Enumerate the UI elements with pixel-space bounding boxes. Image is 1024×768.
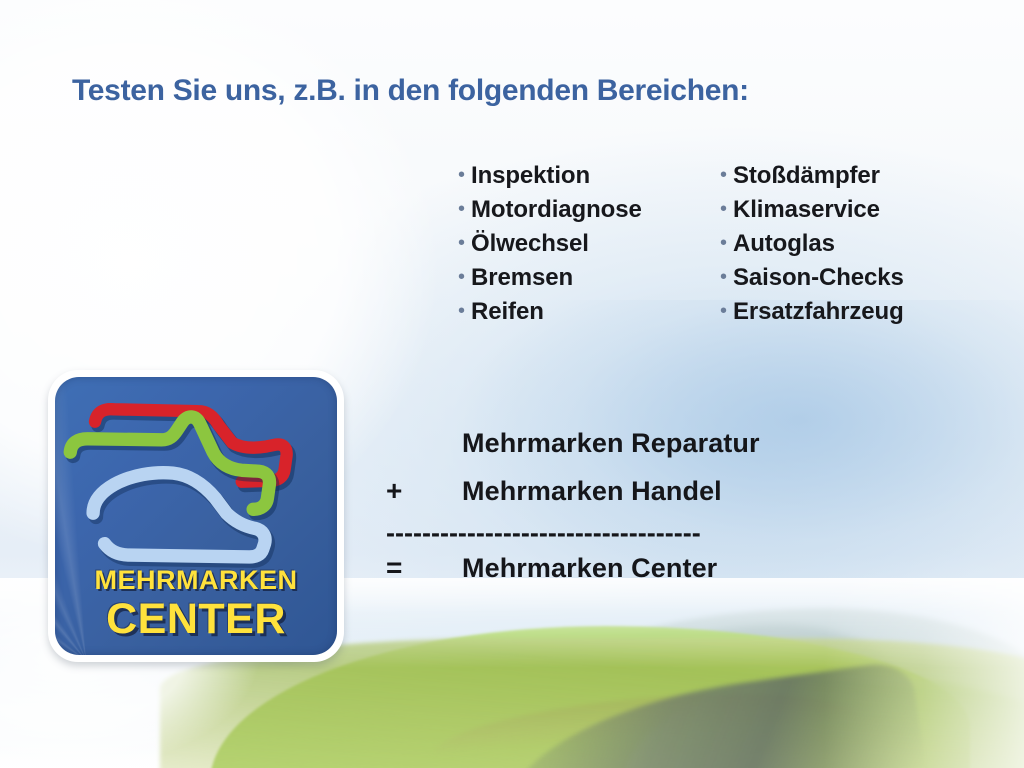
list-item: • Saison-Checks (720, 264, 904, 298)
list-item: • Reifen (458, 298, 720, 332)
list-item: • Inspektion (458, 162, 720, 196)
equation-row-trade: + Mehrmarken Handel (386, 475, 896, 522)
list-item-label: Stoßdämpfer (733, 162, 880, 190)
bullet-icon: • (458, 301, 471, 321)
logo-wordmark-top: MEHRMARKEN (55, 567, 337, 594)
list-item: • Autoglas (720, 230, 904, 264)
list-item-label: Saison-Checks (733, 264, 904, 292)
equation-operator-equals: = (386, 552, 462, 584)
logo-wordmark: MEHRMARKEN CENTER (55, 567, 337, 641)
service-list-right: • Stoßdämpfer • Klimaservice • Autoglas … (720, 162, 904, 332)
list-item-label: Inspektion (471, 162, 590, 190)
list-item-label: Bremsen (471, 264, 573, 292)
equation-operator-plus: + (386, 475, 462, 507)
equation-row-sum: = Mehrmarken Center (386, 552, 896, 602)
mehrmarken-center-logo: MEHRMARKEN CENTER (48, 370, 344, 662)
bullet-icon: • (720, 199, 733, 219)
bullet-icon: • (720, 165, 733, 185)
list-item-label: Autoglas (733, 230, 835, 258)
bullet-icon: • (720, 267, 733, 287)
list-item-label: Ersatzfahrzeug (733, 298, 904, 326)
landscape-fade-right (824, 578, 1024, 768)
list-item: • Stoßdämpfer (720, 162, 904, 196)
logo-panel: MEHRMARKEN CENTER (55, 377, 337, 655)
slide-root: Testen Sie uns, z.B. in den folgenden Be… (0, 0, 1024, 768)
list-item-label: Reifen (471, 298, 544, 326)
service-lists: • Inspektion • Motordiagnose • Ölwechsel… (458, 162, 904, 332)
bullet-icon: • (458, 199, 471, 219)
list-item: • Klimaservice (720, 196, 904, 230)
equation-term-trade: Mehrmarken Handel (462, 476, 722, 507)
bullet-icon: • (458, 267, 471, 287)
list-item: • Motordiagnose (458, 196, 720, 230)
bullet-icon: • (458, 233, 471, 253)
list-item-label: Ölwechsel (471, 230, 589, 258)
list-item: • Ersatzfahrzeug (720, 298, 904, 332)
equation-row-repair: Mehrmarken Reparatur (386, 428, 896, 475)
bullet-icon: • (458, 165, 471, 185)
list-item: • Bremsen (458, 264, 720, 298)
equation-block: Mehrmarken Reparatur + Mehrmarken Handel… (386, 428, 896, 602)
page-title: Testen Sie uns, z.B. in den folgenden Be… (72, 74, 749, 108)
logo-wordmark-bottom: CENTER (55, 598, 337, 641)
bullet-icon: • (720, 301, 733, 321)
bullet-icon: • (720, 233, 733, 253)
equation-term-center: Mehrmarken Center (462, 553, 717, 584)
list-item: • Ölwechsel (458, 230, 720, 264)
equation-divider-line: ----------------------------------- (386, 522, 896, 552)
equation-term-repair: Mehrmarken Reparatur (462, 428, 760, 459)
list-item-label: Motordiagnose (471, 196, 642, 224)
logo-car-illustrations (55, 381, 337, 571)
list-item-label: Klimaservice (733, 196, 880, 224)
service-list-left: • Inspektion • Motordiagnose • Ölwechsel… (458, 162, 720, 332)
